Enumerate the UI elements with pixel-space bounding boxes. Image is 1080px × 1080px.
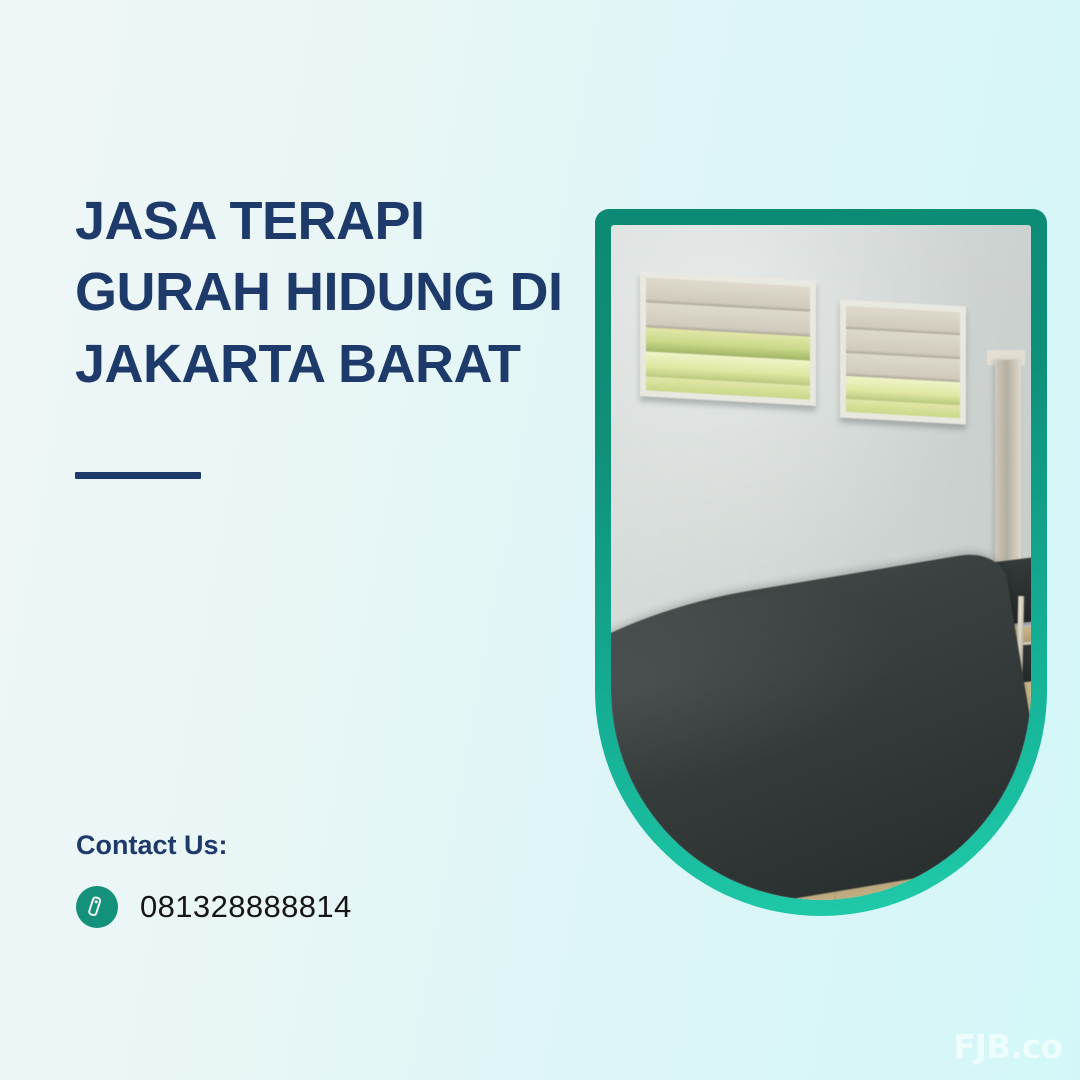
watermark: FJB.co: [953, 1027, 1062, 1066]
page-title: JASA TERAPI GURAH HIDUNG DI JAKARTA BARA…: [75, 186, 575, 400]
therapy-room-photo: [611, 225, 1031, 900]
phone-number: 081328888814: [140, 889, 352, 925]
headline-line-1: JASA TERAPI: [75, 186, 575, 257]
contact-label: Contact Us:: [76, 830, 228, 861]
photo-soften-overlay: [611, 225, 1031, 900]
phone-handset-icon: [76, 886, 118, 928]
headline-line-2: GURAH HIDUNG DI: [75, 257, 575, 328]
poster-canvas: JASA TERAPI GURAH HIDUNG DI JAKARTA BARA…: [0, 0, 1080, 1080]
title-divider: [75, 472, 201, 479]
headline-line-3: JAKARTA BARAT: [75, 329, 575, 400]
photo-scene: [611, 225, 1031, 900]
photo-frame: [595, 209, 1047, 916]
contact-phone-row[interactable]: 081328888814: [76, 886, 352, 928]
